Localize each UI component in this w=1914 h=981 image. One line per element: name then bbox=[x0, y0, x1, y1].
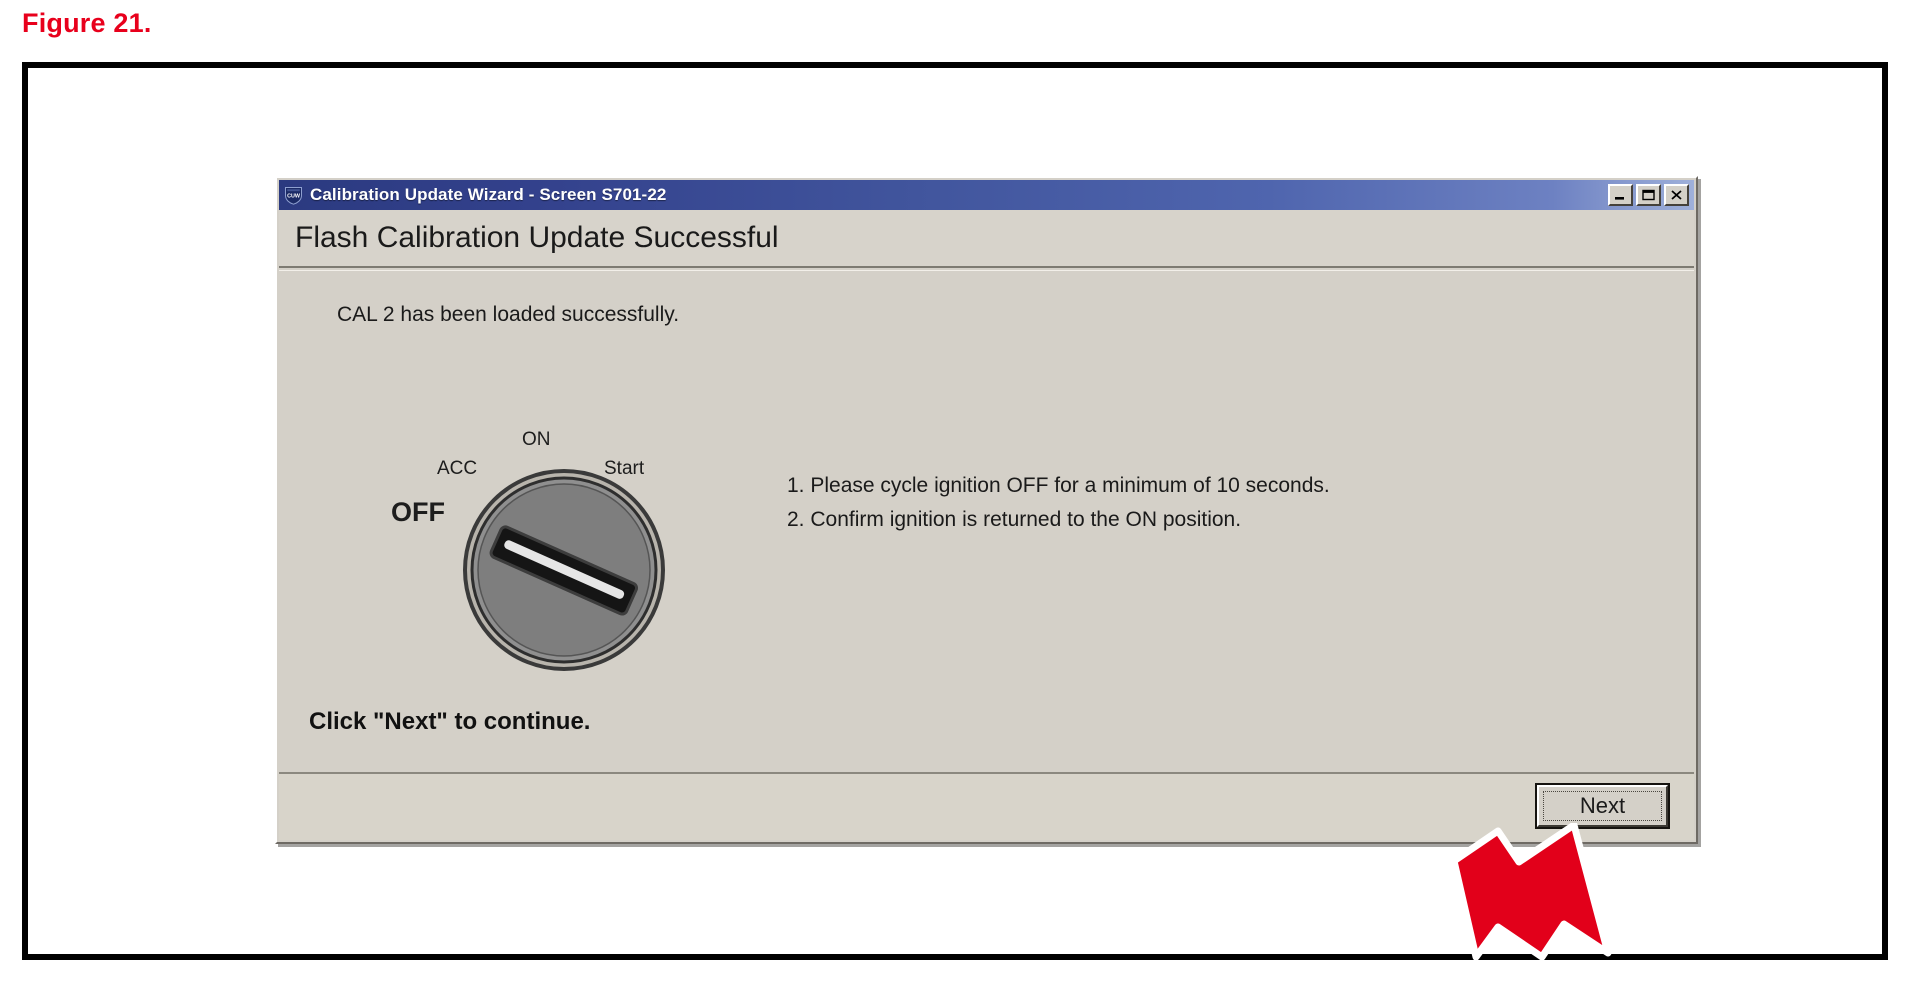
next-button-label: Next bbox=[1580, 793, 1625, 819]
instruction-item: 2. Confirm ignition is returned to the O… bbox=[787, 503, 1330, 537]
header-band: Flash Calibration Update Successful bbox=[279, 210, 1694, 268]
instruction-list: 1. Please cycle ignition OFF for a minim… bbox=[787, 469, 1330, 537]
maximize-icon[interactable] bbox=[1636, 184, 1661, 206]
calibration-update-wizard-window: CUW Calibration Update Wizard - Screen S… bbox=[275, 176, 1698, 844]
minimize-icon[interactable] bbox=[1608, 184, 1633, 206]
close-icon[interactable] bbox=[1664, 184, 1689, 206]
window-title: Calibration Update Wizard - Screen S701-… bbox=[310, 185, 666, 205]
title-bar: CUW Calibration Update Wizard - Screen S… bbox=[279, 180, 1694, 210]
window-controls bbox=[1608, 184, 1692, 206]
figure-frame: CUW Calibration Update Wizard - Screen S… bbox=[22, 62, 1888, 960]
next-button[interactable]: Next bbox=[1537, 785, 1668, 827]
instruction-item: 1. Please cycle ignition OFF for a minim… bbox=[787, 469, 1330, 503]
continue-instruction: Click "Next" to continue. bbox=[309, 708, 590, 736]
next-button-focus-ring: Next bbox=[1543, 791, 1662, 821]
content-panel: CAL 2 has been loaded successfully. ON A… bbox=[279, 270, 1694, 774]
svg-text:CUW: CUW bbox=[287, 193, 301, 199]
ignition-switch-diagram: ON ACC Start OFF bbox=[389, 429, 739, 719]
status-message: CAL 2 has been loaded successfully. bbox=[337, 303, 679, 327]
red-down-right-arrow-icon bbox=[1446, 823, 1626, 968]
cuw-shield-icon: CUW bbox=[284, 186, 303, 205]
figure-label: Figure 21. bbox=[22, 8, 152, 39]
footer-band: Next bbox=[279, 772, 1694, 840]
page-title: Flash Calibration Update Successful bbox=[279, 221, 779, 255]
ignition-cylinder-icon bbox=[389, 429, 739, 719]
